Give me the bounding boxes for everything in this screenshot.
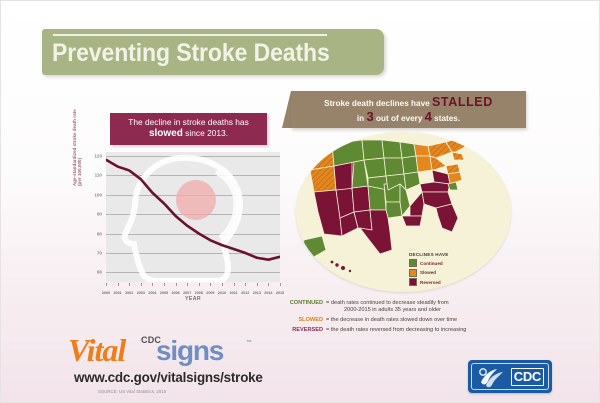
state-ok [386, 202, 402, 218]
map-banner-number-3: 3 [366, 109, 373, 124]
definition-term-continued: CONTINUED [274, 300, 326, 315]
x-axis-tick-mark [280, 283, 281, 286]
vital-signs-logo: Vital CDC signs ™ [68, 334, 268, 368]
state-ky [404, 172, 420, 190]
x-axis-title: YEAR [106, 296, 280, 302]
x-axis-tick-mark [129, 283, 130, 286]
map-banner-notch [282, 91, 291, 128]
state-mi [414, 144, 430, 156]
x-axis-tick-label: 2005 [159, 291, 170, 295]
state-mn [382, 140, 402, 158]
definition-term-slowed: SLOWED [274, 317, 326, 324]
state-hi-4 [348, 269, 351, 272]
x-axis-tick-mark [152, 283, 153, 286]
x-axis-tick-label: 2013 [251, 291, 262, 295]
x-axis-tick-label: 2001 [112, 291, 123, 295]
us-choropleth-map [296, 132, 511, 292]
definitions-block: CONTINUED = death rates continued to dec… [274, 300, 592, 337]
definition-text-continued: = death rates continued to decrease stea… [326, 300, 592, 315]
x-axis-tick-mark [106, 283, 107, 286]
website-url[interactable]: www.cdc.gov/vitalsigns/stroke [74, 370, 263, 385]
legend-swatch-reversed [409, 278, 417, 286]
definition-eq-continued: = [326, 300, 329, 306]
map-banner-post: states. [432, 114, 460, 123]
chart-plot-area [106, 152, 280, 282]
map-legend-item-slowed: Slowed [409, 269, 475, 277]
state-sd [364, 158, 386, 178]
chart-callout-box: The decline in stroke deaths has slowed … [110, 113, 267, 145]
x-axis-ticks: 2000200120022003200420052006200720082009… [106, 283, 280, 295]
x-axis-tick-mark [141, 283, 142, 286]
state-ut [352, 186, 370, 212]
state-ia [384, 158, 404, 176]
map-banner-text: Stroke death declines have STALLED in 3 … [291, 96, 526, 125]
logo-word-vital: Vital [68, 334, 125, 366]
y-axis-tick-label: 120 [82, 153, 102, 158]
definition-eq-slowed: = [326, 317, 329, 323]
x-axis-tick-mark [245, 283, 246, 286]
x-axis-tick-mark [164, 283, 165, 286]
x-axis-tick-mark [210, 283, 211, 286]
logo-trademark-symbol: ™ [246, 340, 252, 346]
hhs-cdc-agency-badge: CDC [468, 360, 552, 393]
map-banner-stalled: STALLED [432, 95, 493, 109]
definition-reversed: REVERSED = the death rates reversed from… [274, 327, 592, 334]
x-axis-tick-mark [257, 283, 258, 286]
y-axis-tick-label: 110 [82, 173, 102, 178]
state-ak [302, 236, 326, 258]
x-axis-tick-mark [222, 283, 223, 286]
map-legend-item-continued: Continued [409, 259, 475, 267]
definition-continued: CONTINUED = death rates continued to dec… [274, 300, 592, 315]
x-axis-tick-mark [234, 283, 235, 286]
map-banner-mid: out of every [374, 114, 425, 123]
x-axis-tick-mark [268, 283, 269, 286]
state-fl [436, 204, 458, 232]
legend-swatch-continued [409, 259, 417, 267]
x-axis-tick-label: 2003 [135, 291, 146, 295]
y-axis-title-line2: (per 100,000) [77, 90, 82, 186]
state-pa [430, 156, 446, 170]
x-axis-tick-label: 2006 [170, 291, 181, 295]
x-axis-tick-label: 2008 [193, 291, 204, 295]
state-nd [362, 140, 384, 160]
x-axis-tick-label: 2009 [205, 291, 216, 295]
x-axis-tick-label: 2010 [217, 291, 228, 295]
state-ma-ct [452, 152, 464, 160]
x-axis-tick-mark [176, 283, 177, 286]
us-states-map-svg [296, 132, 511, 292]
legend-label-slowed: Slowed [420, 270, 436, 275]
y-axis-tick-label: 90 [82, 212, 102, 217]
y-axis-tick-label: 100 [82, 192, 102, 197]
cdc-badge-text: CDC [511, 368, 544, 386]
y-axis-tick-label: 60 [82, 270, 102, 275]
state-wi [400, 142, 416, 158]
chart-callout-emphasis: slowed [149, 128, 183, 139]
x-axis-tick-mark [187, 283, 188, 286]
y-axis-ticks: 12011010090807060 [82, 152, 104, 282]
legend-label-reversed: Reversed [420, 280, 441, 285]
stroke-death-rate-line-chart: 12011010090807060 Age-standardized strok… [84, 152, 284, 312]
legend-swatch-slowed [409, 269, 417, 277]
state-ms-al [410, 192, 424, 216]
state-hi-3 [341, 266, 346, 271]
map-legend-title: DECLINES HAVE [409, 252, 475, 257]
page-title: Preventing Stroke Deaths [52, 36, 356, 70]
definition-slowed: SLOWED = the decrease in death rates slo… [274, 317, 592, 324]
definition-eq-reversed: = [326, 327, 329, 333]
x-axis-tick-label: 2014 [263, 291, 274, 295]
map-banner-number-4: 4 [425, 109, 432, 124]
state-hi-1 [330, 260, 334, 264]
state-nc-tn [420, 182, 450, 192]
y-axis-title: Age-standardized stroke death rate (per … [72, 90, 82, 186]
x-axis-tick-label: 2002 [124, 291, 135, 295]
state-hi-2 [335, 263, 339, 267]
x-axis-tick-label: 2011 [228, 291, 239, 295]
x-axis-tick-mark [199, 283, 200, 286]
definition-continued-line1: death rates continued to decrease steadi… [331, 300, 449, 306]
infographic-poster: Preventing Stroke Deaths The decline in … [0, 0, 600, 403]
x-axis-tick-label: 2012 [240, 291, 251, 295]
logo-word-signs: signs [156, 336, 223, 366]
definition-continued-line2: 2000-2015 in adults 35 years and older [326, 307, 441, 314]
x-axis-tick-label: 2015 [275, 291, 286, 295]
chart-callout-line1: The decline in stroke deaths has [128, 117, 249, 127]
y-axis-tick-label: 70 [82, 250, 102, 255]
x-axis-tick-label: 2007 [182, 291, 193, 295]
map-banner-pre: Stroke death declines have [324, 99, 432, 108]
state-or [310, 166, 336, 192]
y-axis-tick-label: 80 [82, 231, 102, 236]
definition-text-slowed: = the decrease in death rates slowed dow… [326, 317, 592, 324]
definition-term-reversed: REVERSED [274, 327, 326, 334]
legend-label-continued: Continued [420, 261, 443, 266]
map-legend: DECLINES HAVE Continued Slowed Reversed [409, 252, 475, 288]
stroke-death-rate-line [106, 152, 280, 282]
state-wa [306, 144, 334, 170]
definition-reversed-line1: the death rates reversed from decreasing… [331, 327, 467, 333]
x-axis-tick-label: 2004 [147, 291, 158, 295]
chart-callout-line2: since 2013. [183, 128, 228, 138]
map-legend-item-reversed: Reversed [409, 278, 475, 286]
hhs-bird-icon [477, 366, 507, 388]
definition-slowed-line1: the decrease in death rates slowed down … [331, 317, 457, 323]
state-in-oh [416, 156, 432, 172]
x-axis-tick-label: 2000 [101, 291, 112, 295]
source-citation: SOURCE: US Vital Statistics, 2015 [98, 389, 166, 394]
state-il [402, 156, 418, 174]
definition-text-reversed: = the death rates reversed from decreasi… [326, 327, 592, 334]
state-la [402, 216, 422, 226]
x-axis-tick-mark [118, 283, 119, 286]
